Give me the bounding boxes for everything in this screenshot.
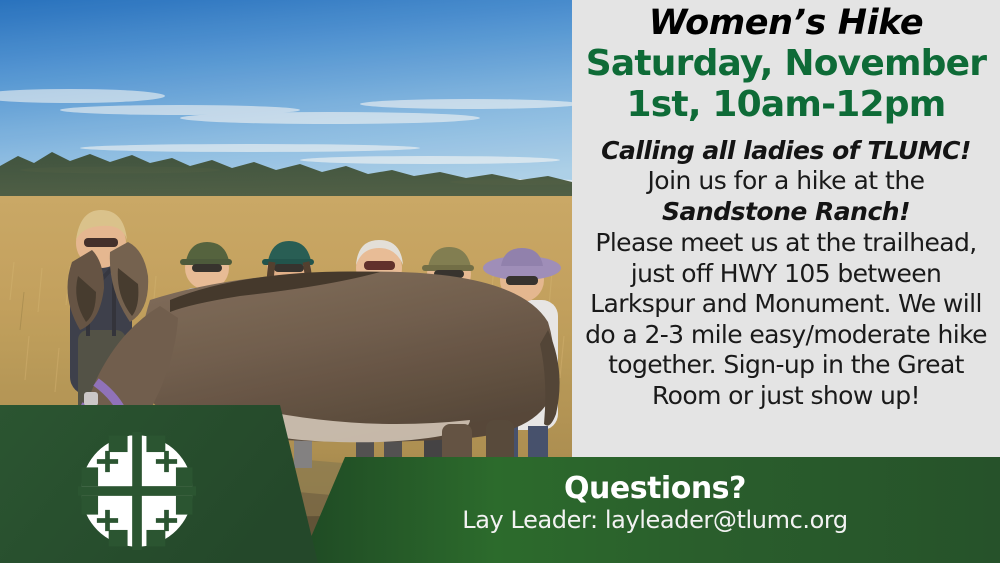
location-emphasis: Sandstone Ranch! xyxy=(582,197,990,228)
event-date-line-1: Saturday, November xyxy=(582,44,990,84)
tlumc-logo xyxy=(78,432,196,550)
event-details-body: Please meet us at the trailhead, just of… xyxy=(582,228,990,411)
flyer-root: Women’s Hike Saturday, November 1st, 10a… xyxy=(0,0,1000,563)
info-panel: Women’s Hike Saturday, November 1st, 10a… xyxy=(572,0,1000,457)
jerusalem-cross-icon xyxy=(78,432,196,550)
contact-email-line[interactable]: Lay Leader: layleader@tlumc.org xyxy=(430,507,880,535)
intro-line: Join us for a hike at the xyxy=(582,166,990,197)
call-to-action-lede: Calling all ladies of TLUMC! xyxy=(582,136,990,166)
questions-block: Questions? Lay Leader: layleader@tlumc.o… xyxy=(430,473,880,534)
questions-heading: Questions? xyxy=(430,473,880,505)
event-date-line-2: 1st, 10am-12pm xyxy=(582,85,990,125)
page-title: Women’s Hike xyxy=(582,4,990,43)
